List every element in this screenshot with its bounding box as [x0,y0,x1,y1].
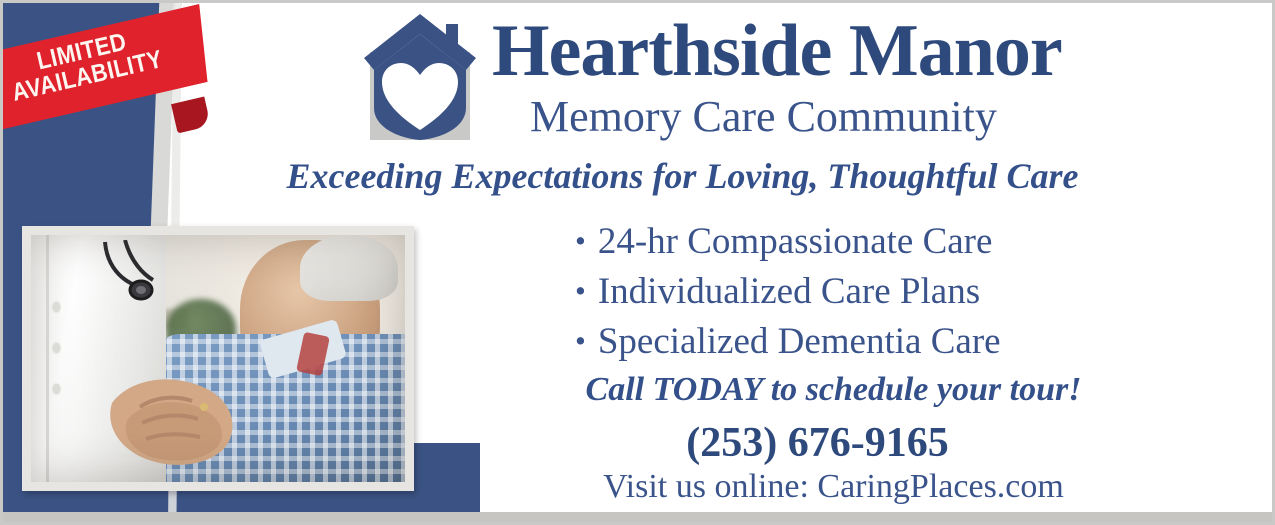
house-heart-icon [358,8,482,140]
website-link[interactable]: Visit us online: CaringPlaces.com [440,468,1227,506]
brand-subtitle: Memory Care Community [530,95,997,139]
list-item: 24-hr Compassionate Care [575,216,1001,266]
photo-frame [22,226,414,491]
photo-vignette [31,235,405,482]
phone-number[interactable]: (253) 676-9165 [440,419,1195,467]
feature-list: 24-hr Compassionate Care Individualized … [575,216,1001,366]
caregiver-photo [31,235,405,482]
tagline: Exceeding Expectations for Loving, Thoug… [0,155,1275,197]
advertisement-banner: LIMITED AVAILABILITY Hearthside Manor Me… [0,0,1275,525]
list-item: Specialized Dementia Care [575,316,1001,366]
list-item: Individualized Care Plans [575,266,1001,316]
ribbon-fold [171,97,211,134]
limited-availability-ribbon: LIMITED AVAILABILITY [0,42,228,162]
footer-strip [0,512,1275,525]
call-to-action-text: Call TODAY to schedule your tour! [440,371,1227,409]
page-title: Hearthside Manor [492,14,1062,88]
